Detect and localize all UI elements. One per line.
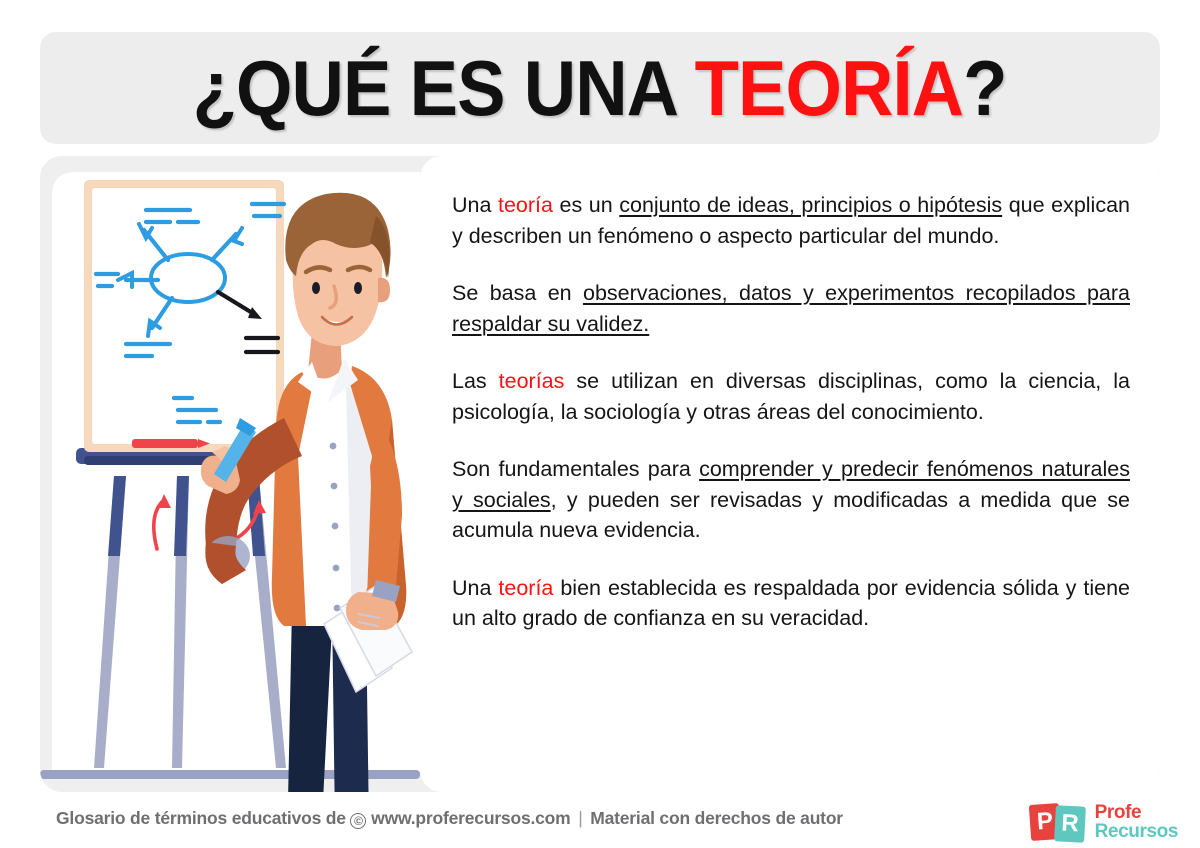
logo-tiles: P R bbox=[1030, 802, 1088, 842]
page-title: ¿QUÉ ES UNA TEORÍA? bbox=[193, 49, 1007, 127]
title-after: ? bbox=[964, 44, 1007, 132]
text-run-hl: teoría bbox=[498, 576, 553, 600]
footer-rights: Material con derechos de autor bbox=[590, 808, 843, 828]
logo-word-recursos: Recursos bbox=[1095, 822, 1178, 841]
text-run-plain: Son fundamentales para bbox=[452, 457, 699, 481]
text-run-plain: Una bbox=[452, 193, 498, 217]
text-run-hl: teorías bbox=[499, 369, 565, 393]
marker-on-tray bbox=[132, 439, 198, 448]
proferecursos-logo[interactable]: P R Profe Recursos bbox=[1030, 802, 1178, 842]
text-run-plain: Las bbox=[452, 369, 499, 393]
title-card: ¿QUÉ ES UNA TEORÍA? bbox=[40, 32, 1160, 144]
logo-word-profe: Profe bbox=[1095, 803, 1178, 822]
footer-separator: | bbox=[575, 808, 585, 828]
paragraph-5: Una teoría bien establecida es respaldad… bbox=[452, 573, 1130, 634]
teacher-flipchart-illustration bbox=[40, 156, 420, 792]
paragraph-1: Una teoría es un conjunto de ideas, prin… bbox=[452, 190, 1130, 251]
paragraph-3: Las teorías se utilizan en diversas disc… bbox=[452, 366, 1130, 427]
footer-credit: Glosario de términos educativos de © www… bbox=[56, 808, 843, 829]
copyright-icon: © bbox=[350, 813, 366, 829]
text-run-plain: es un bbox=[553, 193, 619, 217]
text-run-ul: conjunto de ideas, principios o hipótesi… bbox=[619, 193, 1002, 217]
paragraph-2: Se basa en observaciones, datos y experi… bbox=[452, 278, 1130, 339]
logo-tile-r: R bbox=[1054, 805, 1086, 843]
text-run-plain: , y pueden ser revisadas y modificadas a… bbox=[452, 488, 1130, 543]
text-run-hl: teoría bbox=[498, 193, 553, 217]
paragraph-4: Son fundamentales para comprender y pred… bbox=[452, 454, 1130, 546]
text-run-plain: bien establecida es respaldada por evide… bbox=[452, 576, 1130, 631]
logo-wordmark: Profe Recursos bbox=[1095, 803, 1178, 842]
text-panel: Una teoría es un conjunto de ideas, prin… bbox=[420, 156, 1160, 792]
footer-site[interactable]: www.proferecursos.com bbox=[371, 808, 570, 828]
footer: Glosario de términos educativos de © www… bbox=[0, 796, 1200, 848]
text-run-plain: Se basa en bbox=[452, 281, 583, 305]
title-highlight: TEORÍA bbox=[695, 44, 963, 132]
main-content-card: Una teoría es un conjunto de ideas, prin… bbox=[40, 156, 1160, 792]
infographic-page: ¿QUÉ ES UNA TEORÍA? bbox=[0, 0, 1200, 848]
text-run-plain: Una bbox=[452, 576, 498, 600]
title-before: ¿QUÉ ES UNA bbox=[193, 44, 695, 132]
footer-lead: Glosario de términos educativos de bbox=[56, 808, 346, 828]
illustration-panel bbox=[40, 156, 420, 792]
